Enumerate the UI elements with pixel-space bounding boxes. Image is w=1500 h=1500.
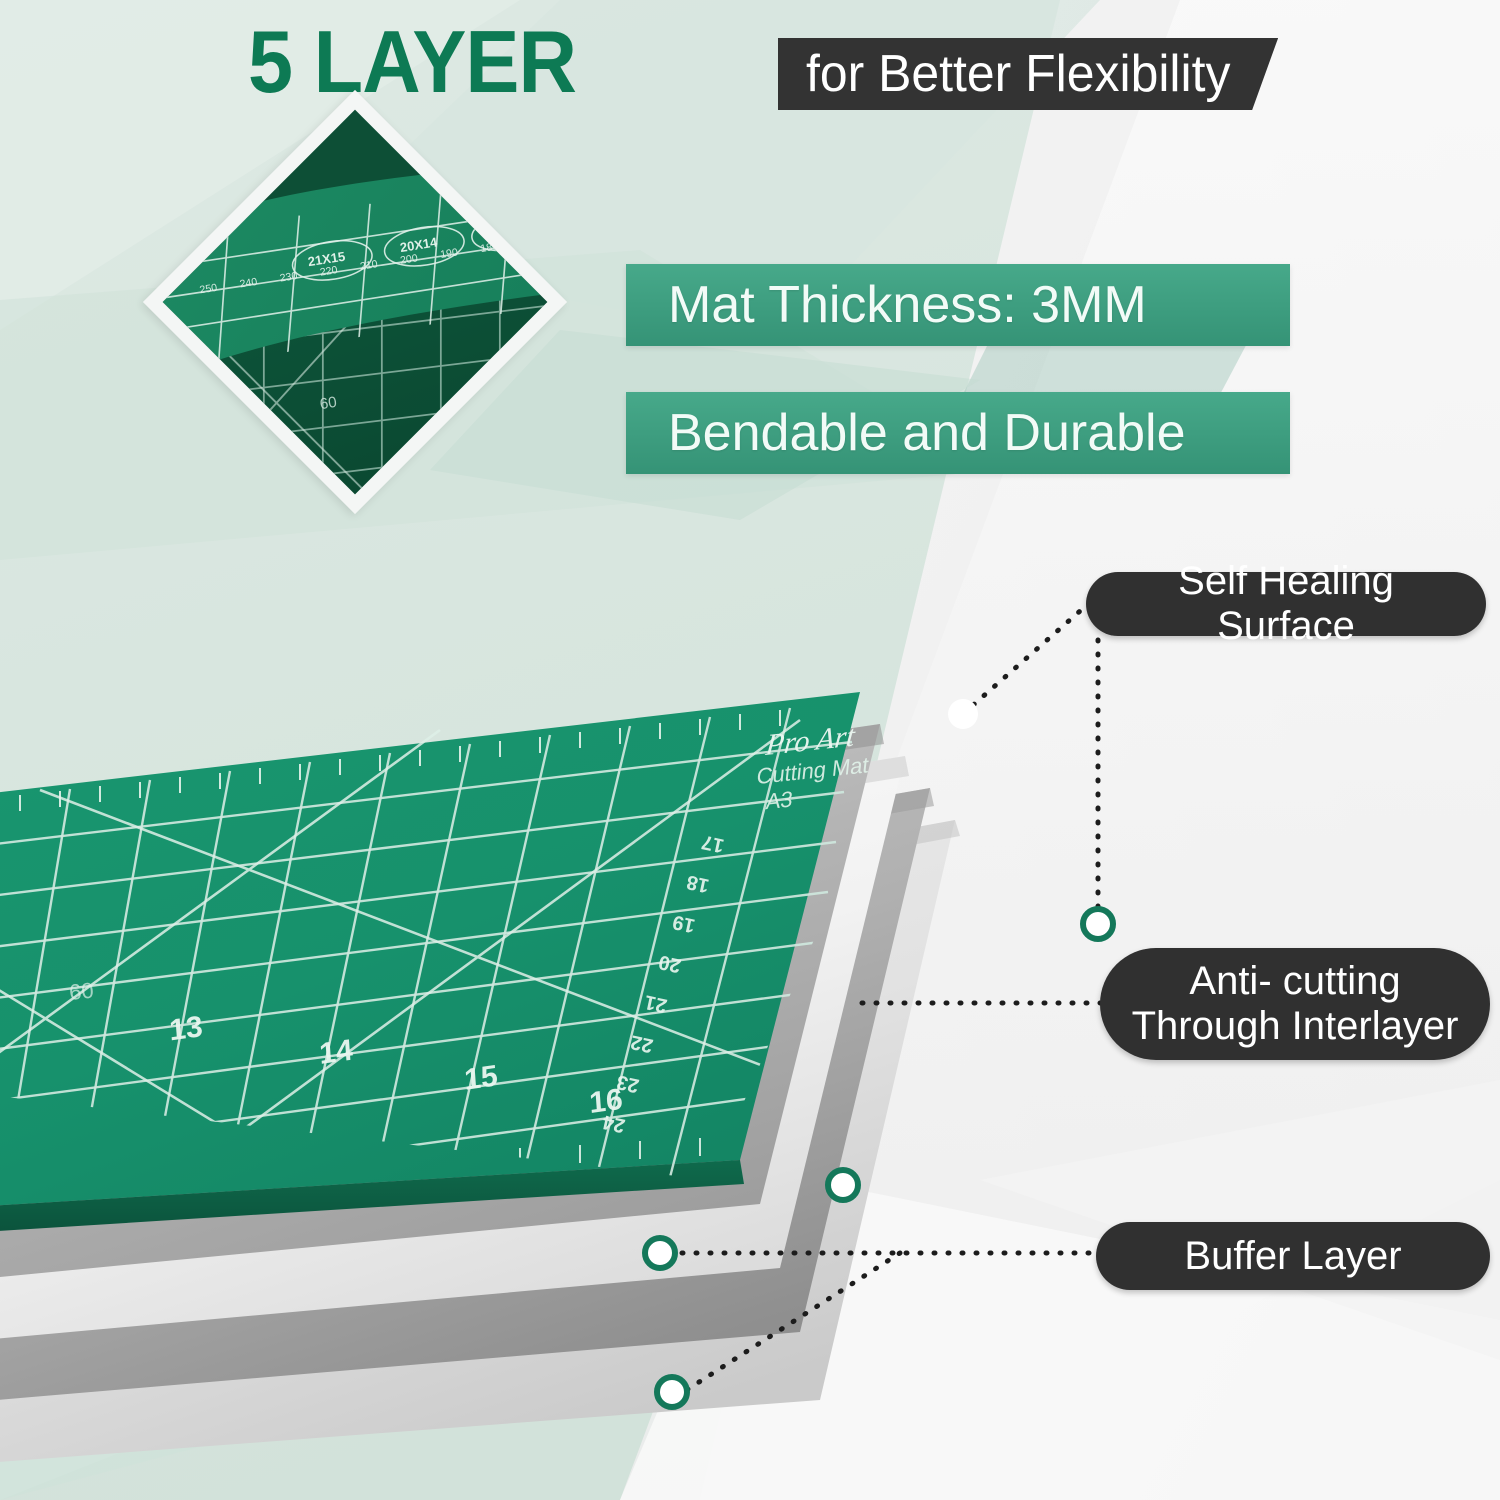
layer-stack-illustration: 12 13 14 15 16 17 18 19 20 21 22 23 24 P… <box>0 520 1220 1480</box>
svg-text:23: 23 <box>615 1070 641 1096</box>
layer-stack-svg: 12 13 14 15 16 17 18 19 20 21 22 23 24 P… <box>0 520 1220 1500</box>
svg-text:18: 18 <box>685 870 711 896</box>
svg-text:A3: A3 <box>765 786 794 814</box>
subtitle-text: for Better Flexibility <box>806 48 1230 100</box>
feature-banner-bendable-label: Bendable and Durable <box>626 407 1186 459</box>
callout-anti-cutting-label: Anti- cutting Through Interlayer <box>1132 959 1459 1049</box>
callout-buffer-label: Buffer Layer <box>1184 1234 1401 1279</box>
svg-text:20: 20 <box>657 950 683 976</box>
svg-text:60: 60 <box>319 394 338 413</box>
callout-self-healing-label: Self Healing Surface <box>1116 559 1456 649</box>
header: 5 LAYER for Better Flexibility <box>0 0 1500 140</box>
feature-banner-thickness: Mat Thickness: 3MM <box>626 264 1290 346</box>
svg-text:19: 19 <box>671 910 697 936</box>
callout-self-healing-surface: Self Healing Surface <box>1086 572 1486 636</box>
svg-text:14: 14 <box>318 1034 354 1071</box>
infographic-canvas: 5 LAYER for Better Flexibility <box>0 0 1500 1500</box>
svg-text:15: 15 <box>463 1059 499 1096</box>
svg-text:17: 17 <box>700 830 726 856</box>
feature-banner-thickness-label: Mat Thickness: 3MM <box>626 279 1147 331</box>
mat-angle-label: 60 <box>68 978 95 1005</box>
svg-text:21: 21 <box>643 990 669 1016</box>
svg-text:13: 13 <box>168 1010 204 1047</box>
svg-text:22: 22 <box>629 1030 655 1056</box>
feature-banner-bendable: Bendable and Durable <box>626 392 1290 474</box>
callout-buffer-layer: Buffer Layer <box>1096 1222 1490 1290</box>
subtitle-banner: for Better Flexibility <box>778 38 1278 110</box>
page-title: 5 LAYER <box>248 18 576 106</box>
callout-anti-cutting-interlayer: Anti- cutting Through Interlayer <box>1100 948 1490 1060</box>
